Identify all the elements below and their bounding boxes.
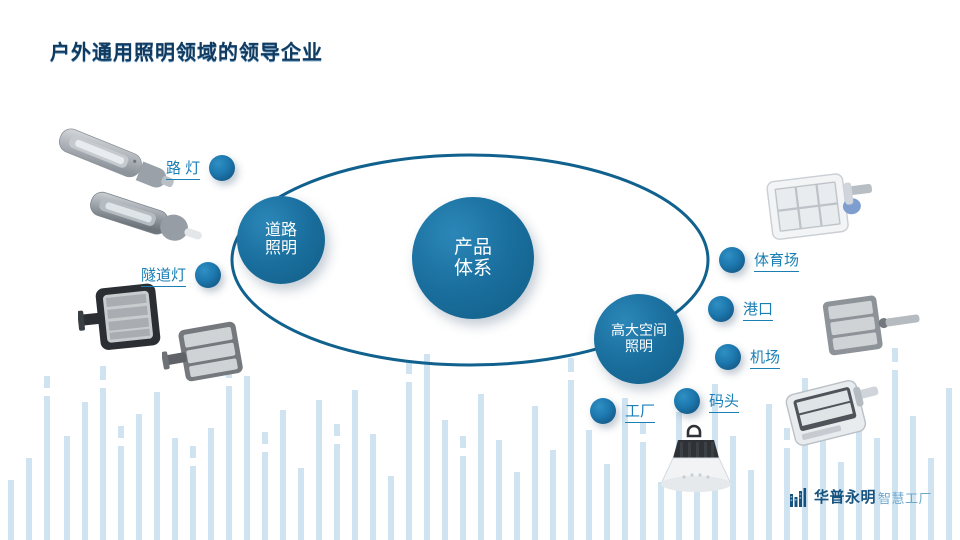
leaf-factory[interactable]: 工厂 xyxy=(590,398,655,424)
airport-label: 机场 xyxy=(750,346,780,368)
stadium-dot xyxy=(719,247,745,273)
logo-company-name: 华普永明 xyxy=(814,486,876,507)
leaf-stadium[interactable]: 体育场 xyxy=(719,247,799,273)
tunnel-flood-light-photo-1 xyxy=(78,278,174,356)
node-product-system[interactable]: 产品 体系 xyxy=(412,197,534,319)
slide-canvas: 户外通用照明领域的领导企业 xyxy=(0,0,960,540)
company-logo: 华普永明 智慧工厂 xyxy=(790,486,932,507)
factory-dot xyxy=(590,398,616,424)
tunnel-flood-light-photo-2 xyxy=(162,318,254,390)
airport-dot xyxy=(715,344,741,370)
wharf-dot xyxy=(674,388,700,414)
node-high-bay-lighting[interactable]: 高大空间 照明 xyxy=(594,294,684,384)
port-dot xyxy=(708,296,734,322)
port-label: 港口 xyxy=(743,298,773,320)
node-road-lighting-label: 道路 照明 xyxy=(265,222,297,258)
street-light-photo-2 xyxy=(82,190,207,250)
leaf-airport[interactable]: 机场 xyxy=(715,344,780,370)
leaf-port[interactable]: 港口 xyxy=(708,296,773,322)
ufo-high-bay-light-photo xyxy=(648,420,744,506)
page-title: 户外通用照明领域的领导企业 xyxy=(50,36,323,65)
logo-sub-name: 智慧工厂 xyxy=(878,488,932,507)
node-high-bay-lighting-label: 高大空间 照明 xyxy=(611,323,667,354)
stadium-label: 体育场 xyxy=(754,249,799,271)
factory-label: 工厂 xyxy=(625,400,655,422)
stadium-flood-light-photo xyxy=(762,168,880,250)
module-flood-light-photo xyxy=(818,288,922,364)
wharf-label: 码头 xyxy=(709,390,739,412)
node-road-lighting[interactable]: 道路 照明 xyxy=(237,196,325,284)
leaf-street-lamp[interactable]: 路 灯 xyxy=(166,155,235,181)
compact-flood-light-photo xyxy=(782,374,894,450)
tunnel-lamp-dot xyxy=(195,262,221,288)
street-lamp-label: 路 灯 xyxy=(166,157,200,179)
leaf-tunnel-lamp[interactable]: 隧道灯 xyxy=(141,262,221,288)
street-lamp-dot xyxy=(209,155,235,181)
street-light-photo-1 xyxy=(48,128,178,190)
tunnel-lamp-label: 隧道灯 xyxy=(141,264,186,286)
leaf-wharf[interactable]: 码头 xyxy=(674,388,739,414)
node-product-system-label: 产品 体系 xyxy=(454,237,492,280)
factory-chart-logo-icon xyxy=(790,488,809,507)
